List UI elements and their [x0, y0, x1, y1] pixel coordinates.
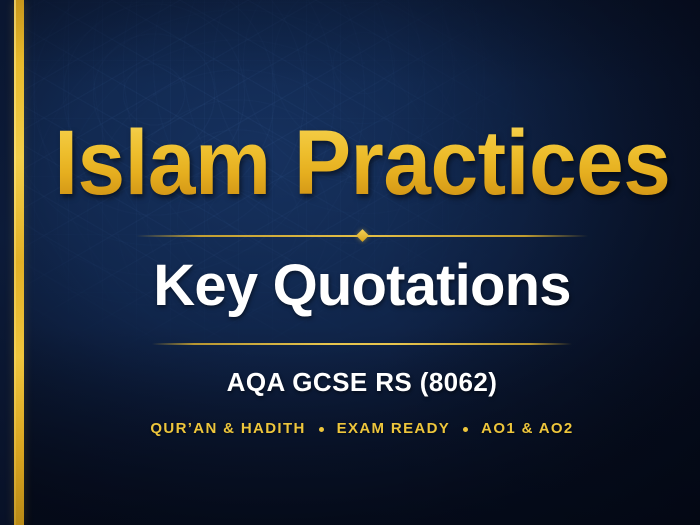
- bullet-separator-icon: [319, 427, 324, 432]
- divider-rule: [152, 343, 572, 345]
- tagline-row: QUR’AN & HADITH EXAM READY AO1 & AO2: [150, 420, 573, 437]
- course-code-line: AQA GCSE RS (8062): [227, 367, 498, 398]
- slide-content: Islam Practices Key Quotations AQA GCSE …: [24, 0, 700, 525]
- bullet-separator-icon: [463, 427, 468, 432]
- divider-with-diamond: [136, 224, 588, 246]
- tagline-item-ao1-ao2: AO1 & AO2: [481, 420, 573, 437]
- left-dark-margin: [0, 0, 14, 525]
- tagline-item-exam-ready: EXAM READY: [337, 420, 451, 437]
- left-gold-accent-bar: [14, 0, 24, 525]
- tagline-item-quran-hadith: QUR’AN & HADITH: [150, 420, 305, 437]
- title-slide: Islam Practices Key Quotations AQA GCSE …: [0, 0, 700, 525]
- slide-title: Islam Practices: [54, 118, 670, 208]
- diamond-ornament-icon: [356, 229, 369, 242]
- slide-subtitle: Key Quotations: [153, 256, 570, 315]
- divider-plain: [152, 337, 572, 349]
